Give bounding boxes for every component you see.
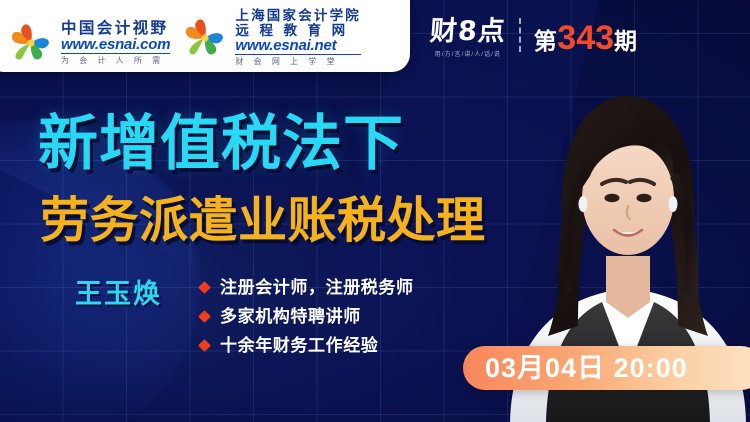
title-line-1: 新增值税法下 bbox=[38, 114, 404, 174]
brand-mark: 财8点 用/方/言/讲/人/话/说 bbox=[430, 18, 506, 58]
partner-logo-text-2: 上海国家会计学院 远 程 教 育 网 www.esnai.net 财 会 网 上… bbox=[235, 9, 361, 66]
brand-logo-text: 财8点 bbox=[429, 18, 507, 45]
brand-subtitle: 用/方/言/讲/人/话/说 bbox=[435, 49, 501, 58]
partner-url: www.esnai.com bbox=[61, 37, 170, 54]
speaker-name: 王玉焕 bbox=[75, 281, 162, 308]
credential-text: 多家机构特聘讲师 bbox=[220, 308, 361, 325]
credential-text: 十余年财务工作经验 bbox=[220, 337, 378, 354]
credential-item: 注册会计师，注册税务师 bbox=[200, 279, 414, 296]
flower-logo-icon-2 bbox=[182, 15, 228, 61]
diamond-bullet-icon bbox=[198, 310, 211, 323]
brand-divider bbox=[519, 18, 521, 52]
schedule-text: 03月04日 20:00 bbox=[485, 355, 688, 382]
issue-number: 343 bbox=[557, 19, 614, 57]
diamond-bullet-icon bbox=[198, 339, 211, 352]
issue-label: 第343期 bbox=[534, 21, 638, 55]
partner-slogan-2: 财 会 网 上 学 堂 bbox=[235, 58, 361, 66]
brand-block: 财8点 用/方/言/讲/人/话/说 第343期 bbox=[430, 18, 638, 58]
partner-name-cn-line2: 远 程 教 育 网 bbox=[235, 24, 361, 38]
partner-slogan: 为 会 计 人 所 需 bbox=[61, 57, 170, 65]
credential-text: 注册会计师，注册税务师 bbox=[220, 279, 414, 296]
diamond-bullet-icon bbox=[198, 281, 211, 294]
partner-logo-esnai-net: 上海国家会计学院 远 程 教 育 网 www.esnai.net 财 会 网 上… bbox=[182, 9, 361, 66]
partner-name-cn: 中国会计视野 bbox=[61, 21, 170, 37]
partner-url-2: www.esnai.net bbox=[235, 38, 361, 55]
webinar-poster: 中国会计视野 www.esnai.com 为 会 计 人 所 需 上海国家会计学… bbox=[0, 0, 750, 422]
partner-logo-panel: 中国会计视野 www.esnai.com 为 会 计 人 所 需 上海国家会计学… bbox=[0, 0, 410, 72]
partner-name-cn-line1: 上海国家会计学院 bbox=[235, 9, 361, 23]
issue-prefix: 第 bbox=[534, 28, 558, 54]
speaker-credentials: 注册会计师，注册税务师 多家机构特聘讲师 十余年财务工作经验 bbox=[200, 279, 414, 354]
title-line-2: 劳务派遣业账税处理 bbox=[40, 196, 486, 245]
schedule-badge: 03月04日 20:00 bbox=[463, 346, 750, 390]
credential-item: 十余年财务工作经验 bbox=[200, 337, 414, 354]
issue-suffix: 期 bbox=[614, 28, 638, 54]
flower-logo-icon bbox=[8, 20, 54, 66]
partner-logo-esnai-com: 中国会计视野 www.esnai.com 为 会 计 人 所 需 bbox=[8, 20, 170, 66]
partner-logo-text: 中国会计视野 www.esnai.com 为 会 计 人 所 需 bbox=[61, 21, 170, 66]
credential-item: 多家机构特聘讲师 bbox=[200, 308, 414, 325]
